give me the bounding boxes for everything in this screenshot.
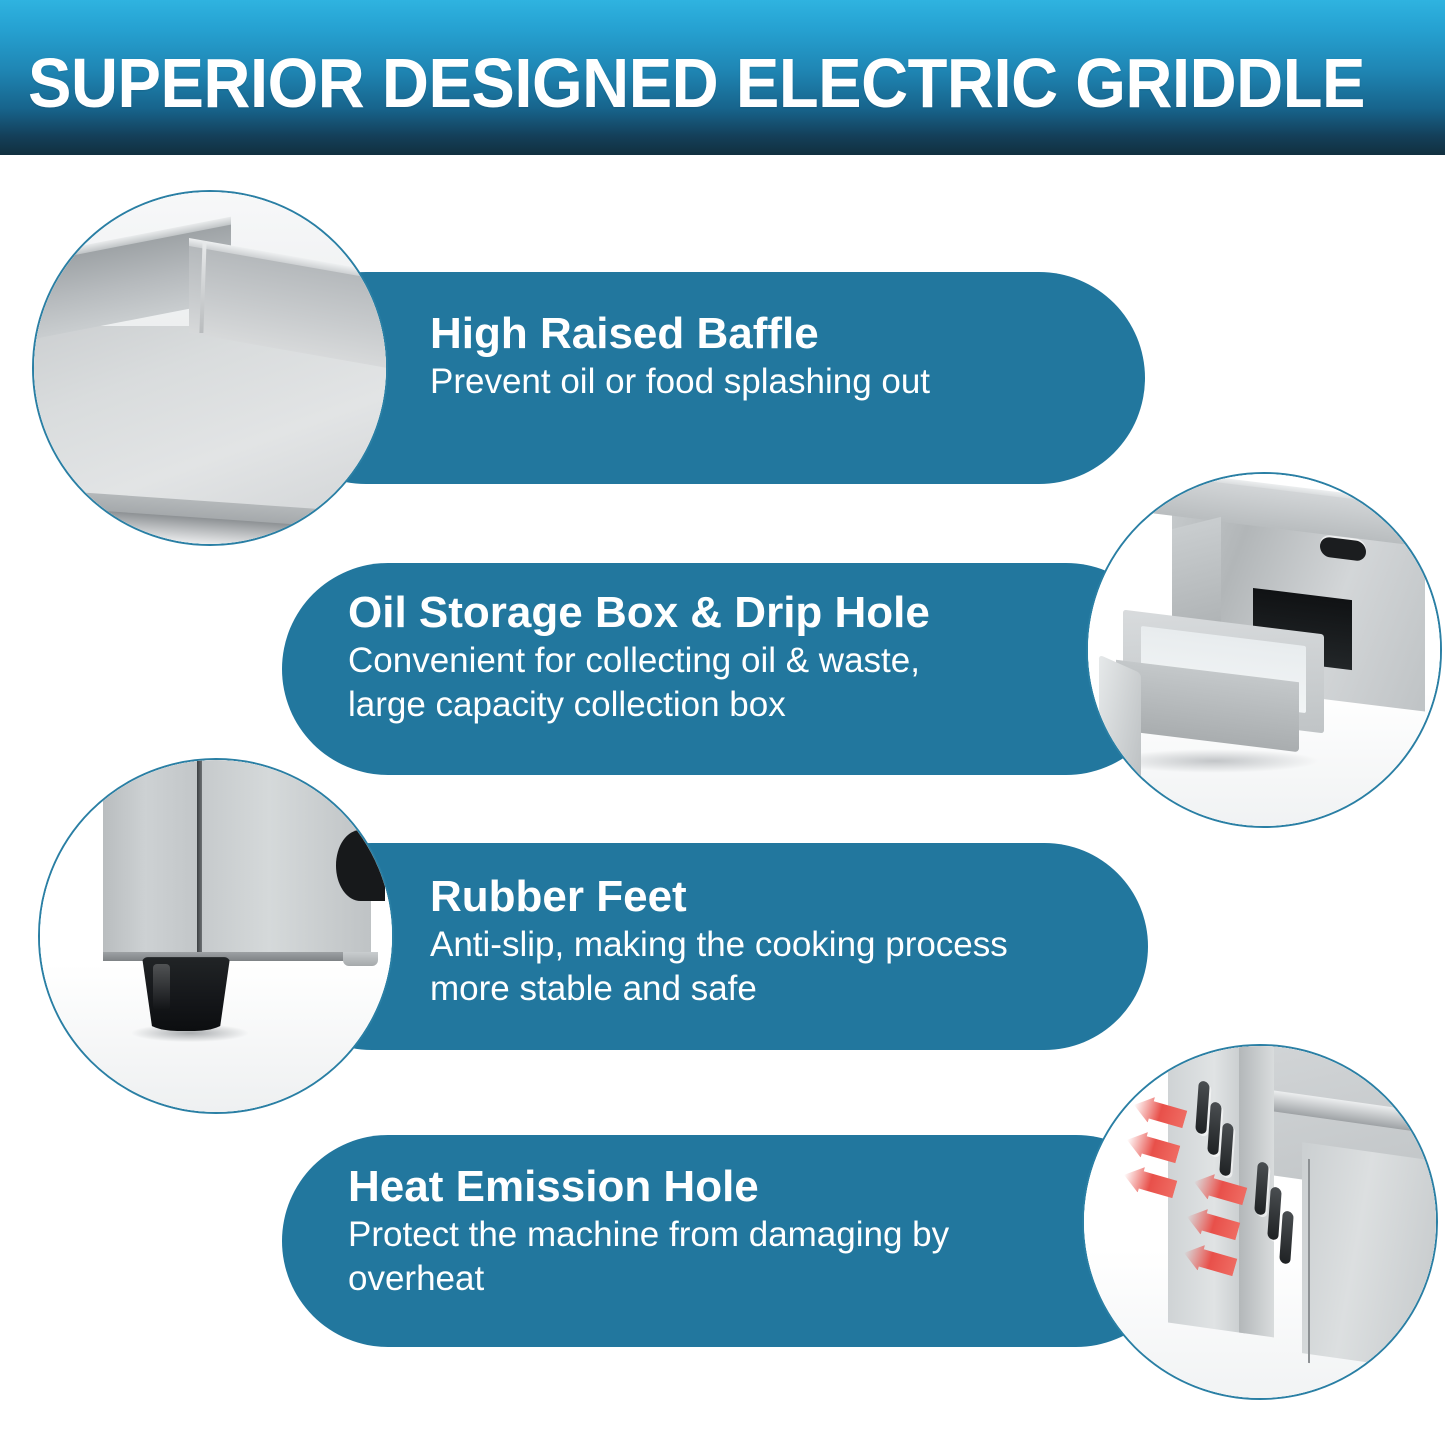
feature-description-line1: Anti-slip, making the cooking process [430, 923, 1008, 967]
infographic-canvas: SUPERIOR DESIGNED ELECTRIC GRIDDLE High … [0, 0, 1445, 1445]
feature-description-line2: more stable and safe [430, 967, 1008, 1011]
feature-photo-oil-storage-box [1086, 472, 1442, 828]
feature-description-line2: large capacity collection box [348, 683, 930, 727]
feature-title: Rubber Feet [430, 871, 1008, 923]
heat-vent-illustration [1084, 1046, 1436, 1398]
feature-title: Oil Storage Box & Drip Hole [348, 587, 930, 639]
feature-title: Heat Emission Hole [348, 1161, 949, 1213]
feature-callout-high-raised-baffle: High Raised Baffle Prevent oil or food s… [260, 272, 1145, 484]
griddle-baffle-illustration [34, 192, 386, 544]
feature-callout-heat-emission-hole: Heat Emission Hole Protect the machine f… [282, 1135, 1182, 1347]
feature-description: Prevent oil or food splashing out [430, 360, 930, 404]
rubber-foot-illustration [40, 760, 392, 1112]
feature-description-line1: Convenient for collecting oil & waste, [348, 639, 930, 683]
feature-callout-oil-storage-box: Oil Storage Box & Drip Hole Convenient f… [282, 563, 1172, 775]
feature-photo-high-raised-baffle [32, 190, 388, 546]
feature-photo-rubber-feet [38, 758, 394, 1114]
oil-drip-drawer-illustration [1088, 474, 1440, 826]
feature-photo-heat-emission-hole [1082, 1044, 1438, 1400]
feature-description-line1: Protect the machine from damaging by [348, 1213, 949, 1257]
feature-callout-rubber-feet: Rubber Feet Anti-slip, making the cookin… [268, 843, 1148, 1050]
header-banner: SUPERIOR DESIGNED ELECTRIC GRIDDLE [0, 0, 1445, 155]
feature-title: High Raised Baffle [430, 308, 930, 360]
feature-description-line2: overheat [348, 1257, 949, 1301]
page-title: SUPERIOR DESIGNED ELECTRIC GRIDDLE [28, 48, 1323, 118]
